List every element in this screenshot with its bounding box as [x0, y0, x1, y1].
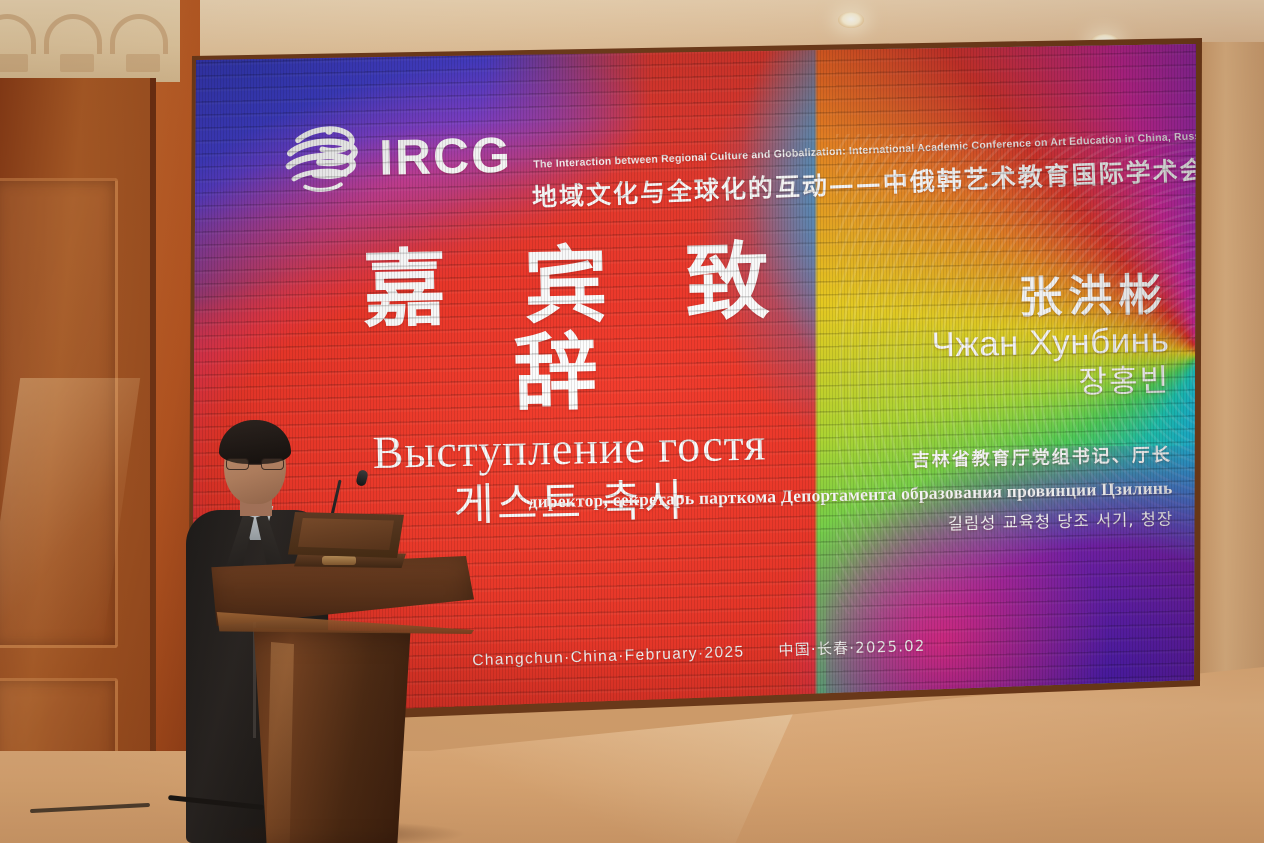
right-wall	[1194, 42, 1264, 742]
conference-photo-scene: IRCG The Interaction between Regional Cu…	[0, 0, 1264, 843]
lectern	[206, 512, 474, 843]
ircg-wordmark: IRCG	[379, 130, 513, 183]
door-panel-upper	[0, 178, 118, 648]
speaker-name-block: 张洪彬 Чжан Хунбинь 장홍빈	[748, 272, 1171, 410]
wooden-door	[0, 78, 156, 838]
globe-swirl-icon	[282, 121, 366, 197]
ceiling-downlight-icon	[838, 12, 864, 28]
eyeglasses-icon	[226, 458, 284, 471]
lectern-column	[234, 628, 430, 843]
left-wood-wall	[0, 0, 200, 843]
footer-chinese: 中国·长春·2025.02	[778, 635, 926, 661]
footer-english: Changchun·China·February·2025	[472, 643, 745, 670]
decorative-molding	[0, 0, 180, 82]
speaker-name-korean: 장홍빈	[750, 363, 1171, 410]
ircg-logo: IRCG	[282, 118, 513, 197]
speaker-role-block: 吉林省教育厅党组书记、厅长 директор, секретарь партко…	[452, 440, 1174, 551]
